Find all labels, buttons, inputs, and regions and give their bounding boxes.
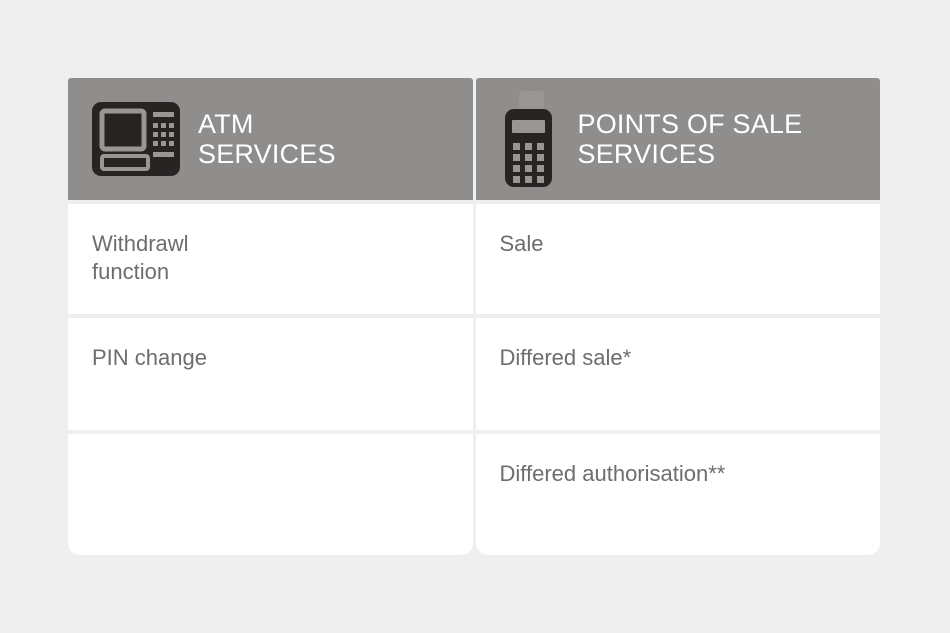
column-header-atm: ATM SERVICES — [68, 78, 473, 200]
cell-pos-1: Sale — [476, 204, 881, 314]
cell-atm-2-text: PIN change — [92, 344, 449, 372]
pos-terminal-icon — [500, 91, 560, 187]
column-atm-services: ATM SERVICES Withdrawl function PIN chan… — [68, 78, 473, 555]
column-header-pos: POINTS OF SALE SERVICES — [476, 78, 881, 200]
cell-pos-3: Differed authorisation** — [476, 434, 881, 555]
cell-atm-1-text: Withdrawl function — [92, 230, 449, 286]
comparison-table-page: ATM SERVICES Withdrawl function PIN chan… — [0, 0, 950, 633]
cell-pos-2-text: Differed sale* — [500, 344, 857, 372]
column-pos-services: POINTS OF SALE SERVICES Sale Differed sa… — [476, 78, 881, 555]
column-title-atm: ATM SERVICES — [198, 109, 336, 169]
cell-atm-3 — [68, 434, 473, 555]
atm-machine-icon — [92, 102, 180, 176]
services-comparison-table: ATM SERVICES Withdrawl function PIN chan… — [68, 78, 880, 555]
cell-atm-1: Withdrawl function — [68, 204, 473, 314]
cell-pos-2: Differed sale* — [476, 318, 881, 430]
cell-atm-2: PIN change — [68, 318, 473, 430]
column-title-pos: POINTS OF SALE SERVICES — [578, 109, 803, 169]
cell-pos-3-text: Differed authorisation** — [500, 460, 857, 488]
cell-pos-1-text: Sale — [500, 230, 857, 258]
